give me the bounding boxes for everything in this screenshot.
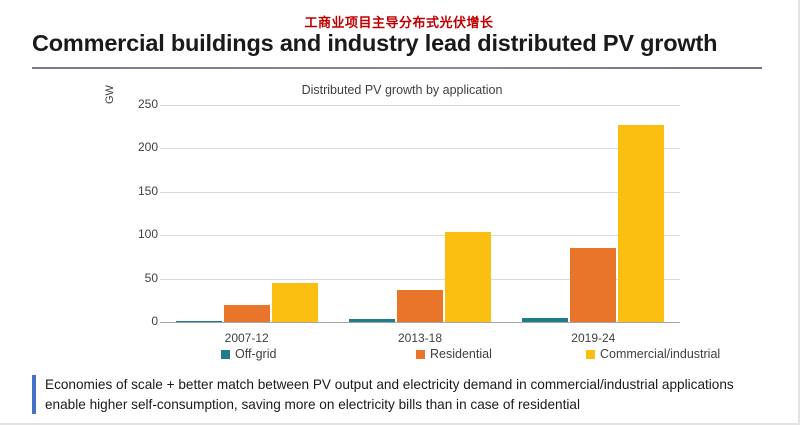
y-axis-tick-label: 150 bbox=[112, 184, 158, 198]
axis-baseline bbox=[160, 322, 680, 323]
gridline bbox=[160, 192, 680, 193]
footer-text: Economies of scale + better match betwee… bbox=[45, 375, 774, 414]
y-axis-tick-label: 200 bbox=[112, 140, 158, 154]
chinese-subtitle: 工商业项目主导分布式光伏增长 bbox=[0, 12, 798, 31]
legend-swatch-icon bbox=[416, 350, 425, 359]
title-divider bbox=[32, 67, 762, 69]
bar-residential-2019-24 bbox=[570, 248, 616, 322]
x-axis-group-label: 2013-18 bbox=[333, 331, 506, 345]
legend-label: Commercial/industrial bbox=[600, 347, 720, 361]
legend-label: Residential bbox=[430, 347, 492, 361]
plot-area: 0501001502002502007-122013-182019-24 bbox=[160, 105, 680, 322]
y-axis-tick-label: 250 bbox=[112, 97, 158, 111]
slide-canvas: 工商业项目主导分布式光伏增长 Commercial buildings and … bbox=[0, 0, 800, 425]
bar-off-grid-2007-12 bbox=[176, 321, 222, 322]
legend-swatch-icon bbox=[586, 350, 595, 359]
legend-label: Off-grid bbox=[235, 347, 276, 361]
bar-residential-2013-18 bbox=[397, 290, 443, 322]
gridline bbox=[160, 148, 680, 149]
chart-legend: Off-gridResidentialCommercial/industrial bbox=[96, 347, 708, 365]
bar-commercial-industrial-2019-24 bbox=[618, 125, 664, 322]
bar-off-grid-2019-24 bbox=[522, 318, 568, 322]
footer-callout: Economies of scale + better match betwee… bbox=[32, 375, 774, 414]
gridline bbox=[160, 235, 680, 236]
chart: Distributed PV growth by application GW … bbox=[96, 80, 708, 370]
legend-item-off-grid[interactable]: Off-grid bbox=[221, 347, 276, 361]
legend-swatch-icon bbox=[221, 350, 230, 359]
bar-off-grid-2013-18 bbox=[349, 319, 395, 322]
x-axis-group-label: 2007-12 bbox=[160, 331, 333, 345]
bar-residential-2007-12 bbox=[224, 305, 270, 322]
legend-item-commercial-industrial[interactable]: Commercial/industrial bbox=[586, 347, 720, 361]
bar-commercial-industrial-2007-12 bbox=[272, 283, 318, 322]
gridline bbox=[160, 105, 680, 106]
x-axis-group-label: 2019-24 bbox=[507, 331, 680, 345]
chart-title: Distributed PV growth by application bbox=[96, 83, 708, 97]
y-axis-tick-label: 0 bbox=[112, 314, 158, 328]
page-title: Commercial buildings and industry lead d… bbox=[32, 30, 772, 57]
y-axis-tick-label: 100 bbox=[112, 227, 158, 241]
y-axis-tick-label: 50 bbox=[112, 271, 158, 285]
legend-item-residential[interactable]: Residential bbox=[416, 347, 492, 361]
bar-commercial-industrial-2013-18 bbox=[445, 232, 491, 322]
footer-accent-bar bbox=[32, 375, 36, 414]
